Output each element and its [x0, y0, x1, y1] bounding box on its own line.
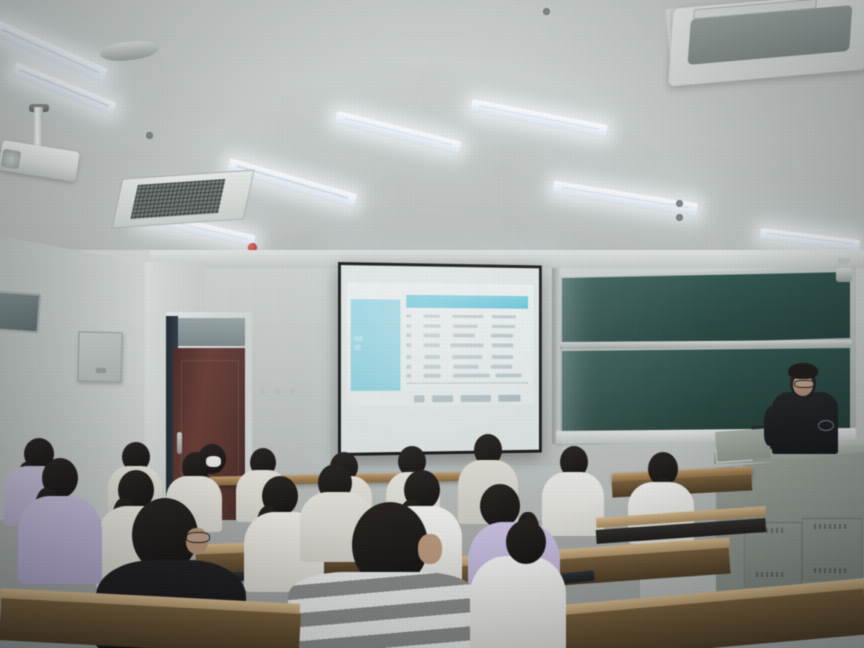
sprinkler-head-icon: [676, 214, 683, 221]
lectern-side-lip: [715, 428, 771, 462]
student-torso: [470, 556, 566, 648]
presenter-hair: [788, 363, 818, 379]
sprinkler-head-icon: [676, 200, 683, 207]
classroom-photo: 多 用 途: [0, 0, 864, 648]
ceiling-light-panel: [552, 181, 698, 217]
door-transom-window: [173, 318, 245, 346]
screen-surface: [341, 265, 539, 453]
projector-lens-icon: [1, 149, 22, 170]
projection-screen: [338, 262, 542, 456]
student-torso: [542, 472, 604, 536]
lectern-vent: [814, 524, 846, 529]
sprinkler-head-icon: [543, 8, 550, 15]
ceiling-light-panel: [760, 228, 861, 251]
wall-vent-window: [0, 291, 41, 334]
wall-room-sign: 多 用 途: [259, 387, 299, 397]
door-handle-icon[interactable]: [177, 432, 182, 454]
electrical-panel-box[interactable]: [77, 331, 122, 382]
wall-speaker-bracket: [838, 258, 850, 264]
glasses-icon: [186, 532, 210, 543]
student-torso-lavender: [18, 496, 102, 584]
blackboard-upper-panel: [562, 272, 850, 346]
lectern-vent: [756, 572, 786, 577]
student-face: [418, 534, 442, 564]
presenter-glasses-icon: [794, 380, 815, 388]
face-mask-icon: [206, 456, 221, 467]
sprinkler-head-icon: [146, 132, 153, 139]
ac-grille: [131, 179, 226, 219]
presenter-shirt-logo-icon: [818, 420, 834, 431]
ceiling-light-panel: [470, 99, 608, 138]
dome-speaker-icon: [99, 39, 159, 63]
wall-conduit: [99, 262, 102, 334]
ceiling-light-panel: [334, 111, 461, 155]
blackboard-left-edge: [552, 268, 560, 444]
student-head: [506, 520, 546, 564]
student-torso-striped: [288, 572, 478, 648]
panel-latch-icon: [96, 368, 106, 373]
lectern-vent: [814, 568, 846, 573]
wall-speaker-icon: [836, 268, 852, 282]
